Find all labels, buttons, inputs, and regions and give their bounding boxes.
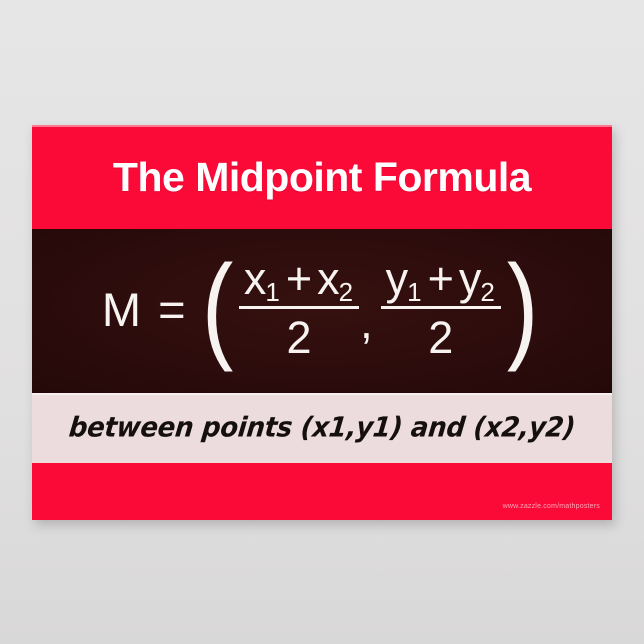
poster-canvas: The Midpoint Formula M = ( x1+x2 2 , y1+…: [32, 125, 612, 520]
y-fraction-numerator: y1+y2: [381, 255, 501, 306]
y2-variable: y: [459, 253, 482, 304]
x1-subscript: 1: [265, 277, 279, 307]
subtitle-text: between points (x1,y1) and (x2,y2): [67, 412, 576, 444]
title-band: The Midpoint Formula: [32, 125, 612, 229]
y-fraction: y1+y2 2: [381, 255, 501, 363]
subtitle-band: between points (x1,y1) and (x2,y2): [32, 393, 612, 463]
footer-band: www.zazzle.com/mathposters: [32, 463, 612, 520]
watermark-url: www.zazzle.com/mathposters: [503, 503, 600, 510]
y-plus-operator: +: [423, 253, 459, 304]
formula-band: M = ( x1+x2 2 , y1+y2 2 ): [32, 229, 612, 393]
open-paren: (: [201, 265, 232, 350]
x2-subscript: 2: [339, 277, 353, 307]
x-fraction-denominator: 2: [286, 309, 311, 363]
y-fraction-denominator: 2: [428, 309, 453, 363]
x-fraction-numerator: x1+x2: [239, 255, 359, 306]
x-plus-operator: +: [281, 253, 317, 304]
y2-subscript: 2: [480, 277, 494, 307]
x-fraction: x1+x2 2: [239, 255, 359, 363]
poster: The Midpoint Formula M = ( x1+x2 2 , y1+…: [32, 125, 612, 520]
close-paren: ): [507, 265, 538, 350]
x2-variable: x: [317, 253, 340, 304]
page-title: The Midpoint Formula: [113, 157, 531, 198]
y1-subscript: 1: [407, 277, 421, 307]
formula-lhs: M =: [102, 286, 188, 333]
x1-variable: x: [244, 253, 267, 304]
y1-variable: y: [386, 253, 409, 304]
formula-comma: ,: [360, 300, 380, 345]
midpoint-formula: M = ( x1+x2 2 , y1+y2 2 ): [102, 255, 542, 363]
